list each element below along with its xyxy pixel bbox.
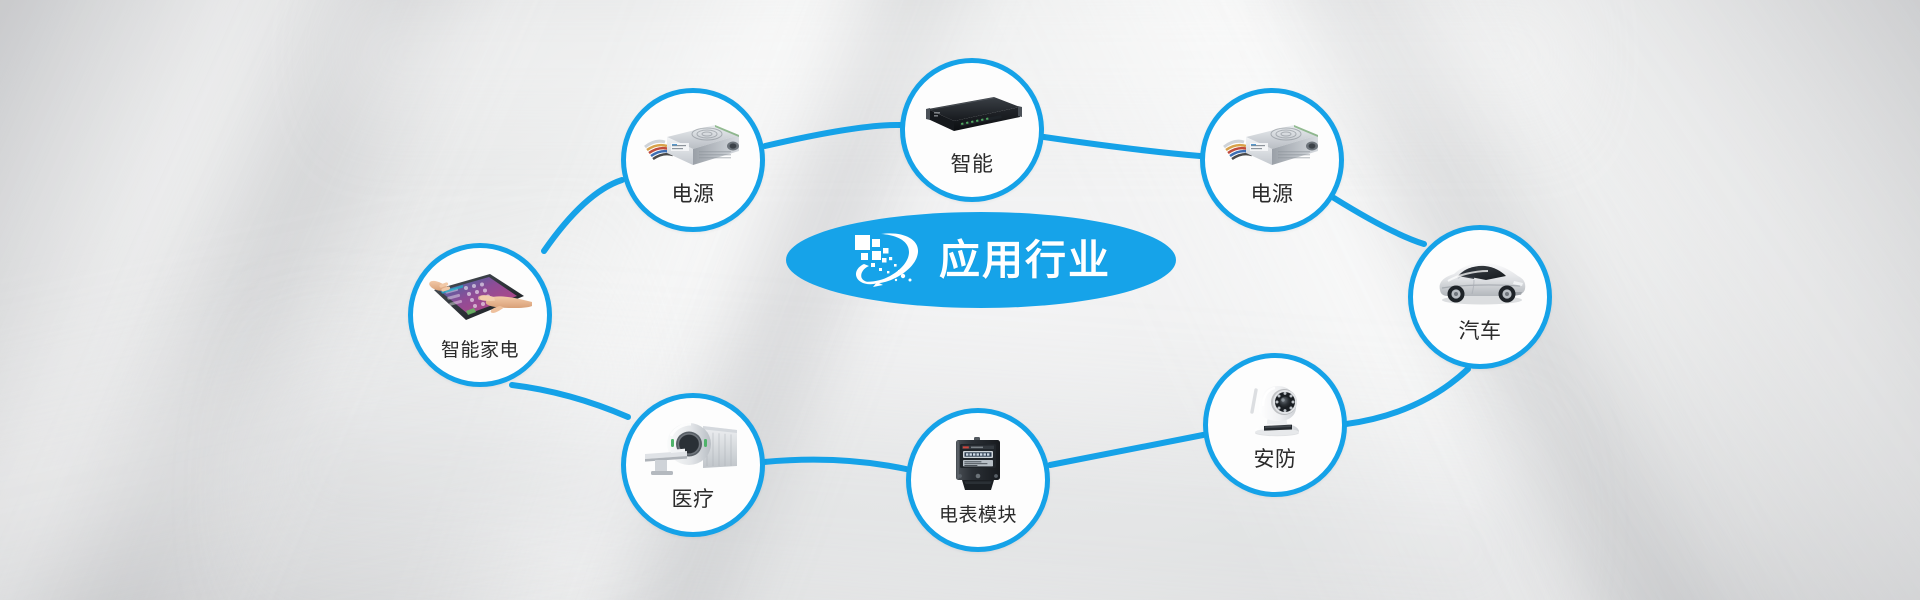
edge-smart-to-power-right bbox=[1044, 137, 1200, 156]
tablet-touch-hand-icon bbox=[428, 270, 532, 328]
node-label: 电表模块 bbox=[911, 506, 1045, 525]
node-label: 智能家电 bbox=[413, 341, 547, 360]
node-power-left[interactable]: 电源 bbox=[621, 88, 765, 232]
edge-automotive-to-security bbox=[1346, 369, 1468, 424]
node-smart[interactable]: 智能 bbox=[900, 58, 1044, 202]
node-label: 医疗 bbox=[626, 489, 760, 510]
edge-security-to-meter bbox=[1050, 435, 1203, 465]
node-label: 汽车 bbox=[1413, 321, 1547, 342]
edge-power-left-to-smart bbox=[765, 125, 900, 146]
electric-meter-icon bbox=[926, 435, 1030, 493]
node-medical[interactable]: 医疗 bbox=[621, 393, 765, 537]
node-power-right[interactable]: 电源 bbox=[1200, 88, 1344, 232]
power-supply-unit-icon bbox=[641, 115, 745, 173]
node-meter-module[interactable]: 电表模块 bbox=[906, 408, 1050, 552]
node-security[interactable]: 安防 bbox=[1203, 353, 1347, 497]
edge-power-right-to-automotive bbox=[1334, 198, 1424, 244]
power-supply-unit-icon bbox=[1220, 115, 1324, 173]
node-label: 电源 bbox=[1205, 184, 1339, 205]
edge-medical-to-smart-home bbox=[512, 385, 628, 417]
sports-car-icon bbox=[1428, 252, 1532, 310]
node-label: 电源 bbox=[626, 184, 760, 205]
node-label: 智能 bbox=[905, 154, 1039, 175]
edge-smart-home-to-power-left bbox=[544, 180, 622, 251]
node-automotive[interactable]: 汽车 bbox=[1408, 225, 1552, 369]
node-label: 安防 bbox=[1208, 449, 1342, 470]
rack-server-icon bbox=[920, 85, 1024, 143]
ct-scanner-icon bbox=[641, 420, 745, 478]
node-smart-home[interactable]: 智能家电 bbox=[408, 243, 552, 387]
orbit-pixel-swoosh-logo bbox=[851, 230, 925, 290]
edge-meter-to-medical bbox=[764, 460, 906, 469]
badge-title: 应用行业 bbox=[939, 240, 1111, 281]
ip-camera-icon bbox=[1223, 380, 1327, 438]
center-badge[interactable]: 应用行业 bbox=[786, 212, 1176, 308]
banner-stage: 电源 bbox=[0, 0, 1920, 600]
